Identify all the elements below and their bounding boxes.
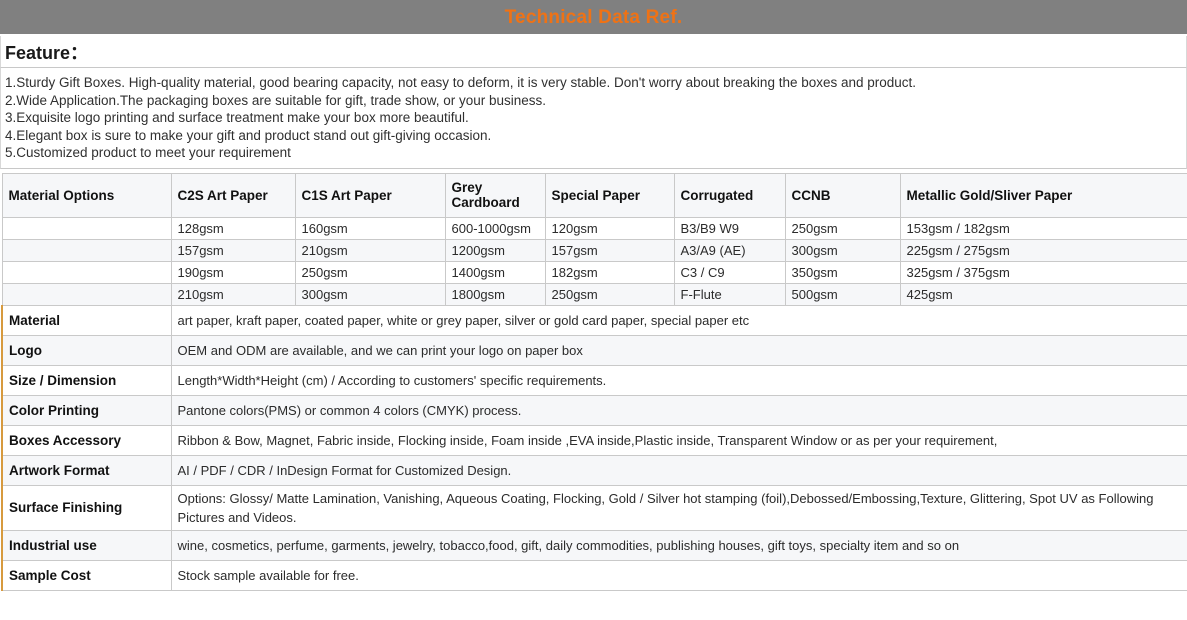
table-row: 190gsm 250gsm 1400gsm 182gsm C3 / C9 350… — [2, 261, 1187, 283]
cell-grey: 1800gsm — [445, 283, 545, 305]
detail-value: art paper, kraft paper, coated paper, wh… — [171, 305, 1187, 335]
detail-value: Stock sample available for free. — [171, 560, 1187, 590]
cell-corrugated: A3/A9 (AE) — [674, 239, 785, 261]
column-header-ccnb: CCNB — [785, 173, 900, 217]
cell-grey: 1200gsm — [445, 239, 545, 261]
detail-row-surface-finishing: Surface Finishing Options: Glossy/ Matte… — [2, 485, 1187, 530]
detail-value: AI / PDF / CDR / InDesign Format for Cus… — [171, 455, 1187, 485]
detail-label: Artwork Format — [2, 455, 171, 485]
column-header-corrugated: Corrugated — [674, 173, 785, 217]
feature-item: 4.Elegant box is sure to make your gift … — [5, 127, 1182, 145]
cell-metallic: 425gsm — [900, 283, 1187, 305]
detail-value: wine, cosmetics, perfume, garments, jewe… — [171, 530, 1187, 560]
title-banner: Technical Data Ref. — [0, 0, 1187, 36]
detail-row-sample-cost: Sample Cost Stock sample available for f… — [2, 560, 1187, 590]
detail-label: Logo — [2, 335, 171, 365]
cell-material-options — [2, 217, 171, 239]
cell-ccnb: 500gsm — [785, 283, 900, 305]
detail-row-size-dimension: Size / Dimension Length*Width*Height (cm… — [2, 365, 1187, 395]
detail-value: Options: Glossy/ Matte Lamination, Vanis… — [171, 485, 1187, 530]
cell-c2s: 210gsm — [171, 283, 295, 305]
cell-metallic: 225gsm / 275gsm — [900, 239, 1187, 261]
feature-item: 5.Customized product to meet your requir… — [5, 144, 1182, 162]
feature-heading: Feature： — [5, 39, 88, 65]
column-header-material-options: Material Options — [2, 173, 171, 217]
cell-corrugated: C3 / C9 — [674, 261, 785, 283]
cell-ccnb: 300gsm — [785, 239, 900, 261]
detail-row-artwork-format: Artwork Format AI / PDF / CDR / InDesign… — [2, 455, 1187, 485]
column-header-metallic-paper: Metallic Gold/Sliver Paper — [900, 173, 1187, 217]
cell-special: 250gsm — [545, 283, 674, 305]
table-row: 157gsm 210gsm 1200gsm 157gsm A3/A9 (AE) … — [2, 239, 1187, 261]
cell-special: 157gsm — [545, 239, 674, 261]
detail-label: Size / Dimension — [2, 365, 171, 395]
detail-label: Surface Finishing — [2, 485, 171, 530]
cell-c2s: 190gsm — [171, 261, 295, 283]
detail-label: Sample Cost — [2, 560, 171, 590]
cell-special: 120gsm — [545, 217, 674, 239]
cell-special: 182gsm — [545, 261, 674, 283]
cell-metallic: 325gsm / 375gsm — [900, 261, 1187, 283]
column-header-c2s-art-paper: C2S Art Paper — [171, 173, 295, 217]
page-title: Technical Data Ref. — [505, 8, 683, 27]
detail-value: Pantone colors(PMS) or common 4 colors (… — [171, 395, 1187, 425]
cell-grey: 1400gsm — [445, 261, 545, 283]
specification-table: Material Options C2S Art Paper C1S Art P… — [1, 173, 1187, 591]
feature-item: 1.Sturdy Gift Boxes. High-quality materi… — [5, 74, 1182, 92]
detail-row-industrial-use: Industrial use wine, cosmetics, perfume,… — [2, 530, 1187, 560]
column-header-grey-cardboard: Grey Cardboard — [445, 173, 545, 217]
feature-list: 1.Sturdy Gift Boxes. High-quality materi… — [0, 68, 1187, 169]
detail-label: Industrial use — [2, 530, 171, 560]
column-header-c1s-art-paper: C1S Art Paper — [295, 173, 445, 217]
feature-heading-row: Feature： — [0, 36, 1187, 68]
cell-corrugated: F-Flute — [674, 283, 785, 305]
cell-c1s: 250gsm — [295, 261, 445, 283]
table-header-row: Material Options C2S Art Paper C1S Art P… — [2, 173, 1187, 217]
detail-value: Ribbon & Bow, Magnet, Fabric inside, Flo… — [171, 425, 1187, 455]
detail-row-material: Material art paper, kraft paper, coated … — [2, 305, 1187, 335]
cell-c1s: 210gsm — [295, 239, 445, 261]
detail-value: OEM and ODM are available, and we can pr… — [171, 335, 1187, 365]
cell-corrugated: B3/B9 W9 — [674, 217, 785, 239]
detail-row-boxes-accessory: Boxes Accessory Ribbon & Bow, Magnet, Fa… — [2, 425, 1187, 455]
feature-item: 2.Wide Application.The packaging boxes a… — [5, 92, 1182, 110]
cell-c2s: 128gsm — [171, 217, 295, 239]
technical-data-page: Technical Data Ref. Feature： 1.Sturdy Gi… — [0, 0, 1187, 620]
table-row: 210gsm 300gsm 1800gsm 250gsm F-Flute 500… — [2, 283, 1187, 305]
cell-c1s: 160gsm — [295, 217, 445, 239]
cell-material-options — [2, 261, 171, 283]
cell-c2s: 157gsm — [171, 239, 295, 261]
cell-ccnb: 350gsm — [785, 261, 900, 283]
detail-label: Color Printing — [2, 395, 171, 425]
cell-material-options — [2, 283, 171, 305]
detail-value: Length*Width*Height (cm) / According to … — [171, 365, 1187, 395]
cell-material-options — [2, 239, 171, 261]
detail-row-logo: Logo OEM and ODM are available, and we c… — [2, 335, 1187, 365]
feature-item: 3.Exquisite logo printing and surface tr… — [5, 109, 1182, 127]
table-row: 128gsm 160gsm 600-1000gsm 120gsm B3/B9 W… — [2, 217, 1187, 239]
column-header-special-paper: Special Paper — [545, 173, 674, 217]
cell-metallic: 153gsm / 182gsm — [900, 217, 1187, 239]
cell-c1s: 300gsm — [295, 283, 445, 305]
detail-label: Boxes Accessory — [2, 425, 171, 455]
detail-label: Material — [2, 305, 171, 335]
cell-ccnb: 250gsm — [785, 217, 900, 239]
detail-row-color-printing: Color Printing Pantone colors(PMS) or co… — [2, 395, 1187, 425]
cell-grey: 600-1000gsm — [445, 217, 545, 239]
